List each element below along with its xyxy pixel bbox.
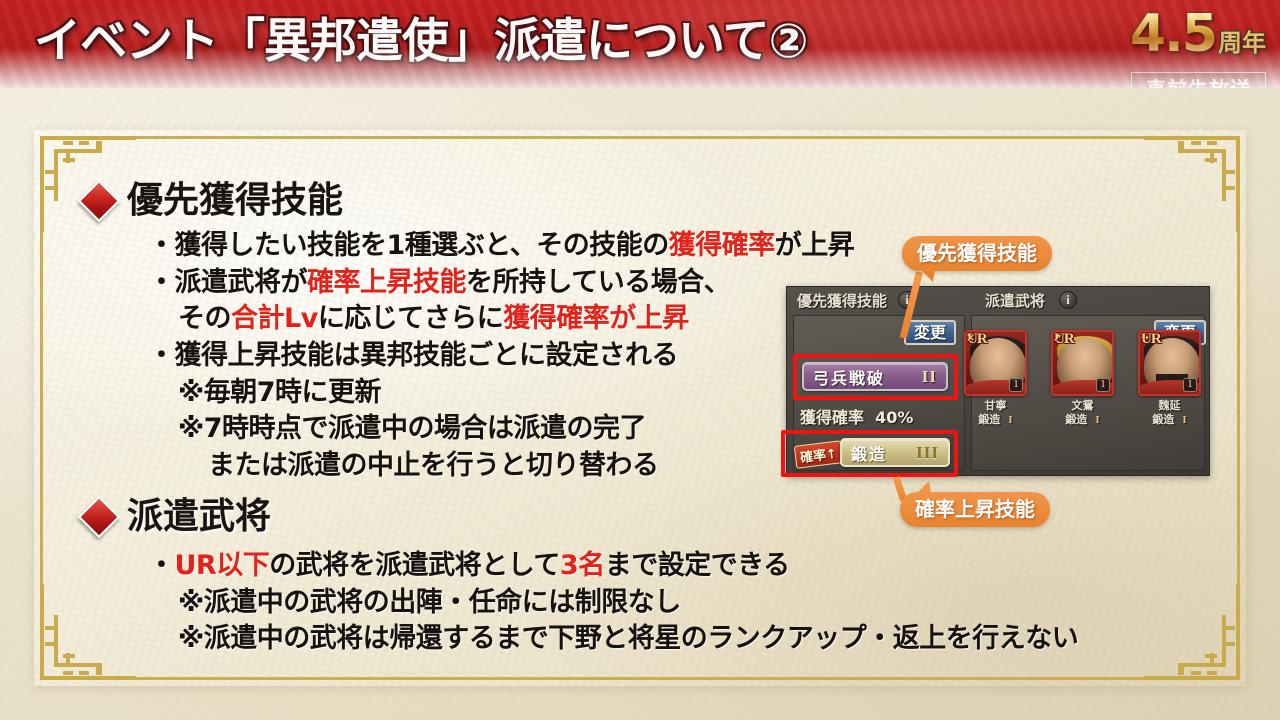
officer-name: ➝ 魏延 — [1138, 399, 1201, 413]
callout-rate-up-skill: 確率上昇技能 — [900, 492, 1050, 527]
info-icon[interactable]: i — [898, 291, 916, 309]
officer-name-text: 甘寧 — [985, 399, 1007, 412]
bullet-line: ・UR以下の武将を派遣武将として3名まで設定できる — [148, 549, 790, 583]
page-title: イベント「異邦遣使」派遣について② — [34, 11, 807, 73]
priority-skill-level: II — [922, 367, 937, 387]
line-text: が上昇 — [775, 230, 855, 261]
acquisition-probability: 獲得確率 40% — [800, 404, 913, 428]
section-heading-priority-skill: 優先獲得技能 — [84, 180, 343, 222]
line-text: の武将を派遣武将として — [269, 550, 560, 581]
spear-icon: ➚ — [1053, 331, 1062, 344]
line-text: ・ — [148, 550, 175, 581]
callout-tail — [920, 269, 935, 282]
diamond-bullet-icon — [78, 180, 120, 222]
callout-priority-skill: 優先獲得技能 — [902, 236, 1052, 271]
line-text-highlight: 合計Lv — [231, 303, 318, 334]
bullet-line: ・獲得上昇技能は異邦技能ごとに設定される — [148, 339, 678, 373]
officer-star-count: 1 — [1096, 378, 1110, 392]
officer-skill-name: 鍛造 — [1152, 413, 1174, 426]
line-text: または派遣の中止を行うと切り替わる — [208, 450, 659, 481]
officer-skill-level: I — [1095, 414, 1099, 426]
callout-label: 確率上昇技能 — [915, 497, 1035, 521]
bullet-line: ・獲得したい技能を1種選ぶと、その技能の獲得確率が上昇 — [148, 229, 854, 263]
slide-header: イベント「異邦遣使」派遣について② 4.5 4.5 周年 直前生放送 — [0, 0, 1280, 88]
priority-skill-section-label: 優先獲得技能 — [797, 292, 887, 310]
change-button-priority-skill[interactable]: 変更 — [904, 320, 956, 345]
bullet-line: または派遣の中止を行うと切り替わる — [208, 449, 659, 483]
officer-name: ⨯ 甘寧 — [964, 399, 1027, 413]
line-text: その — [178, 303, 231, 334]
info-icon[interactable]: i — [1059, 291, 1077, 309]
line-text: に応じてさらに — [318, 303, 504, 334]
line-text-highlight: 確率上昇技能 — [307, 267, 466, 298]
live-broadcast-banner: 直前生放送 — [1131, 72, 1266, 88]
priority-skill-pill[interactable]: 弓兵戦破 II — [802, 362, 948, 391]
bullet-line: ※派遣中の武将は帰還するまで下野と将星のランクアップ・返上を行えない — [178, 622, 1078, 656]
officer-skill-name: 鍛造 — [978, 413, 1000, 426]
section-heading-dispatch-officers: 派遣武将 — [84, 496, 271, 538]
line-text: ・獲得上昇技能は異邦技能ごとに設定される — [148, 340, 678, 371]
slide-root: イベント「異邦遣使」派遣について② 4.5 4.5 周年 直前生放送 — [0, 0, 1280, 720]
officer-skill-name: 鍛造 — [1065, 413, 1087, 426]
officer-skill: 鍛造I — [964, 413, 1027, 427]
anniversary-row: 4.5 4.5 周年 — [1130, 6, 1266, 62]
rate-up-skill-pill[interactable]: 鍛造 III — [840, 438, 950, 467]
dispatch-officer-section-label: 派遣武将 — [985, 292, 1045, 310]
line-text: ※7時時点で派遣中の場合は派遣の完了 — [178, 413, 646, 444]
diamond-bullet-icon — [78, 496, 120, 538]
rate-up-skill-name: 鍛造 — [851, 441, 887, 465]
bullet-line: ※毎朝7時に更新 — [178, 376, 381, 410]
probability-label: 獲得確率 — [800, 408, 864, 427]
anniversary-badge: 4.5 4.5 周年 直前生放送 — [1090, 6, 1272, 88]
section-title: 派遣武将 — [127, 496, 271, 538]
officer-skill-level: I — [1008, 414, 1012, 426]
officer-skill: 鍛造I — [1051, 413, 1114, 427]
callout-tail — [916, 481, 931, 494]
line-text: ※毎朝7時に更新 — [178, 377, 381, 408]
bullet-line: ・派遣武将が確率上昇技能を所持している場合、 — [148, 266, 730, 300]
rate-up-skill-level: III — [916, 443, 939, 463]
line-text-highlight: 3名 — [560, 550, 605, 581]
bullet-line: その合計Lvに応じてさらに獲得確率が上昇 — [178, 302, 689, 336]
line-text: ※派遣中の武将は帰還するまで下野と将星のランクアップ・返上を行えない — [178, 623, 1078, 654]
priority-skill-name: 弓兵戦破 — [813, 365, 885, 389]
officer-card[interactable]: UR 1 ➚ 文鴛 鍛造I — [1051, 330, 1114, 427]
officer-card[interactable]: UR 1 ⨯ 甘寧 鍛造I — [964, 330, 1027, 427]
officer-star-count: 1 — [1009, 378, 1023, 392]
officer-name: ➚ 文鴛 — [1051, 399, 1114, 413]
section-title: 優先獲得技能 — [127, 180, 343, 222]
bullet-line: ※7時時点で派遣中の場合は派遣の完了 — [178, 412, 646, 446]
anniversary-number: 4.5 — [1130, 6, 1216, 62]
line-text: まで設定できる — [605, 550, 790, 581]
line-text: ・派遣武将が — [148, 267, 307, 298]
officer-card[interactable]: UR 1 ➝ 魏延 鍛造I — [1138, 330, 1201, 427]
frame-corner-top-right — [1144, 136, 1240, 232]
officer-star-count: 1 — [1183, 378, 1197, 392]
frame-corner-bottom-right — [1144, 584, 1240, 680]
officer-skill-level: I — [1182, 414, 1186, 426]
line-text-highlight: UR以下 — [175, 550, 270, 581]
line-text-highlight: 獲得確率が上昇 — [503, 303, 689, 334]
officer-skill: 鍛造I — [1138, 413, 1201, 427]
frame-corner-bottom-left — [40, 584, 136, 680]
sword-icon: ➝ — [1140, 331, 1149, 344]
anniversary-suffix: 周年 — [1218, 28, 1266, 58]
callout-label: 優先獲得技能 — [917, 241, 1037, 265]
line-text: ※派遣中の武将の出陣・任命には制限なし — [178, 587, 681, 618]
line-text-highlight: 獲得確率 — [669, 230, 775, 261]
line-text: を所持している場合、 — [466, 267, 730, 298]
bullet-line: ※派遣中の武将の出陣・任命には制限なし — [178, 586, 681, 620]
line-text: ・獲得したい技能を1種選ぶと、その技能の — [148, 230, 669, 261]
dispatch-officer-list: UR 1 ⨯ 甘寧 鍛造I UR 1 ➚ 文鴛 — [964, 330, 1202, 460]
officer-name-text: 魏延 — [1159, 399, 1181, 412]
probability-value: 40% — [875, 408, 913, 427]
officer-name-text: 文鴛 — [1072, 399, 1094, 412]
bow-icon: ⨯ — [966, 331, 975, 344]
